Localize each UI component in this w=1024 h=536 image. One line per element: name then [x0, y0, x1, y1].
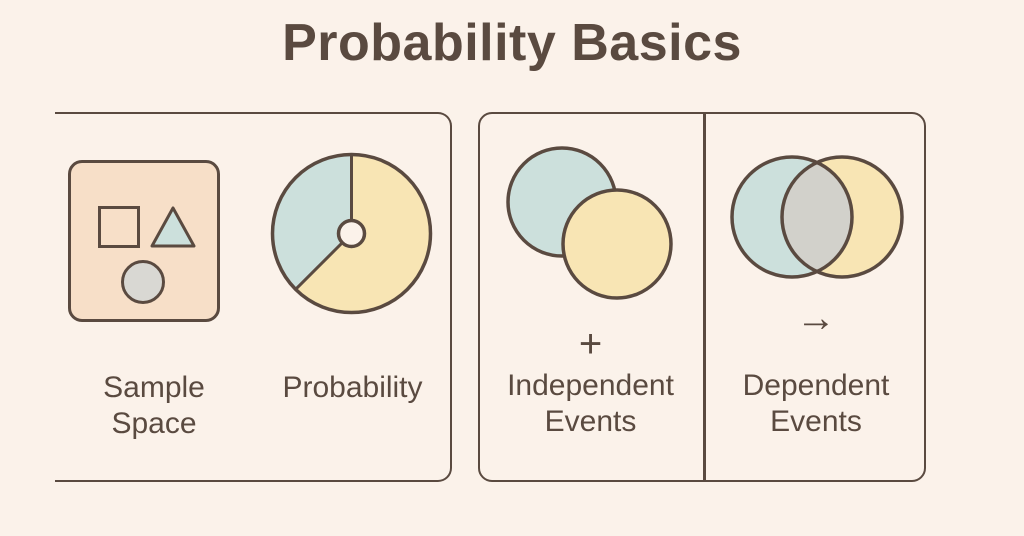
cell-probability[interactable]: Probability	[253, 112, 452, 482]
sample-space-box	[68, 160, 220, 322]
independent-events-label: Independent Events	[478, 368, 703, 440]
probability-label: Probability	[253, 370, 452, 406]
cell-independent-events[interactable]: + Independent Events	[478, 112, 703, 482]
triangle-icon	[149, 205, 197, 249]
sample-space-label: Sample Space	[55, 370, 253, 442]
arrow-right-icon: →	[706, 298, 926, 338]
dependent-events-label: Dependent Events	[706, 368, 926, 440]
two-offset-circles-icon	[500, 144, 682, 304]
page-title: Probability Basics	[0, 8, 1024, 78]
cell-sample-space[interactable]: Sample Space	[55, 112, 253, 482]
square-icon	[98, 206, 140, 248]
pie-chart-icon	[270, 152, 433, 315]
plus-icon: +	[478, 324, 703, 364]
cell-dependent-events[interactable]: → Dependent Events	[706, 112, 926, 482]
infographic-canvas: Probability Basics Sample Space	[0, 0, 1024, 536]
venn-with-intersection-icon	[728, 152, 906, 282]
circle-icon	[121, 260, 165, 304]
